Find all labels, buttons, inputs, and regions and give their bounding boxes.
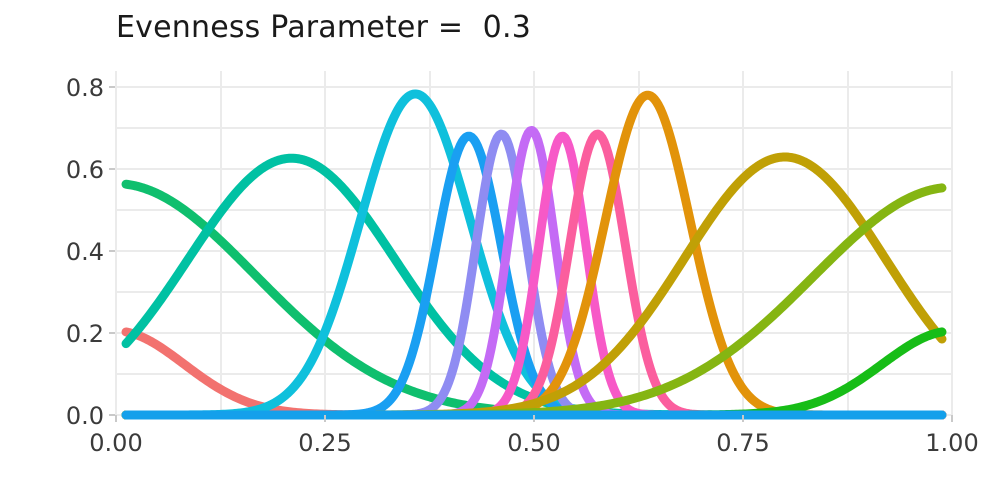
x-tick-mark — [742, 415, 744, 422]
x-tick-mark — [533, 415, 535, 422]
y-tick-mark — [109, 168, 116, 170]
x-tick-label: 0.75 — [683, 429, 803, 457]
x-tick-label: 1.00 — [892, 429, 1000, 457]
chart-figure: Evenness Parameter = 0.3 0.00.20.40.60.8… — [0, 0, 1000, 500]
x-tick-mark — [115, 415, 117, 422]
chart-title: Evenness Parameter = 0.3 — [116, 8, 1000, 48]
y-tick-mark — [109, 250, 116, 252]
x-axis-tick-labels: 0.000.250.500.751.00 — [116, 429, 952, 469]
x-tick-mark — [951, 415, 953, 422]
x-axis-tick-marks — [116, 415, 952, 427]
x-tick-mark — [324, 415, 326, 422]
x-tick-label: 0.50 — [474, 429, 594, 457]
plot-area — [116, 71, 952, 415]
x-tick-label: 0.00 — [56, 429, 176, 457]
curve-layer — [116, 71, 952, 415]
y-axis-tick-marks — [0, 71, 116, 415]
y-tick-mark — [109, 86, 116, 88]
y-tick-mark — [109, 332, 116, 334]
x-tick-label: 0.25 — [265, 429, 385, 457]
